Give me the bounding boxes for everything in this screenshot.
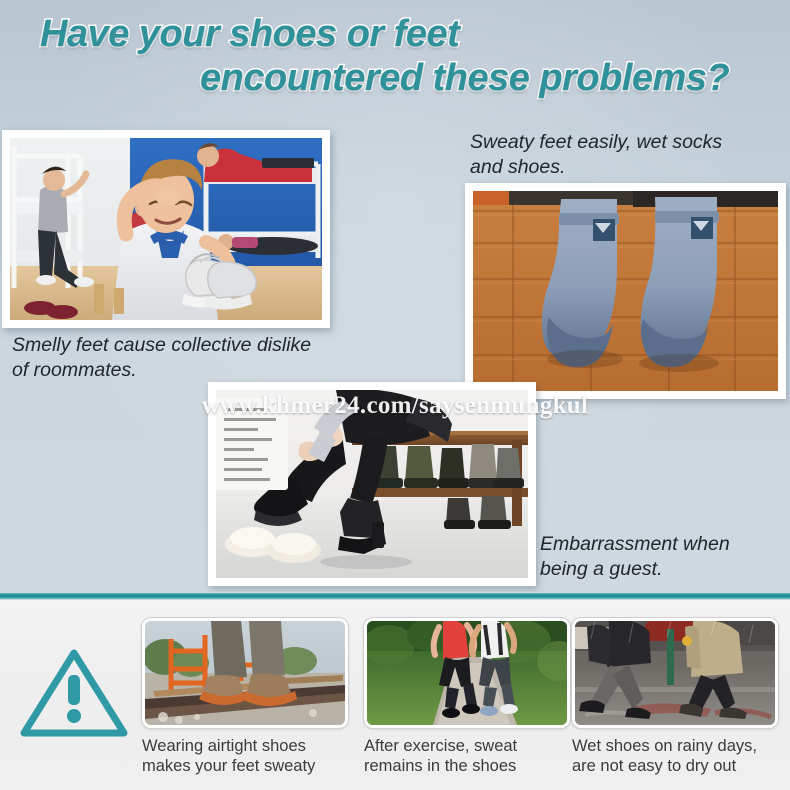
photo-entry-image xyxy=(216,390,528,578)
entry-scene-art xyxy=(216,390,528,578)
photo-wet-blue-socks xyxy=(465,183,786,399)
rain-scene-art xyxy=(575,621,775,725)
dorm-scene-art xyxy=(10,138,322,320)
caption-embarrassment: Embarrassment when being a guest. xyxy=(540,532,730,582)
thumb-joggers xyxy=(364,618,570,728)
card-label-after-exercise: After exercise, sweat remains in the sho… xyxy=(364,737,570,776)
headline-line-1: Have your shoes or feet xyxy=(40,12,790,56)
photo-dorm-smelly-shoes xyxy=(2,130,330,328)
caption-sweaty-feet: Sweaty feet easily, wet socks and shoes. xyxy=(470,130,722,180)
thumb-airtight-shoes xyxy=(142,618,348,728)
card-label-rainy-days: Wet shoes on rainy days, are not easy to… xyxy=(572,737,778,776)
headline: Have your shoes or feet encountered thes… xyxy=(0,12,790,100)
photo-dorm-image xyxy=(10,138,322,320)
card-airtight-shoes: Wearing airtight shoes makes your feet s… xyxy=(142,618,348,776)
section-divider xyxy=(0,592,790,600)
joggers-scene-art xyxy=(367,621,567,725)
photo-socks-image xyxy=(473,191,778,391)
card-after-exercise: After exercise, sweat remains in the sho… xyxy=(364,618,570,776)
promo-poster: Have your shoes or feet encountered thes… xyxy=(0,0,790,790)
socks-scene-art xyxy=(473,191,778,391)
warning-triangle-icon xyxy=(18,645,130,741)
warning-triangle-svg xyxy=(18,645,130,741)
thumb-rainy-street xyxy=(572,618,778,728)
caption-smelly-feet: Smelly feet cause collective dislike of … xyxy=(12,333,311,383)
card-label-airtight-shoes: Wearing airtight shoes makes your feet s… xyxy=(142,737,348,776)
headline-line-2: encountered these problems? xyxy=(200,56,790,100)
photo-entryway-boots xyxy=(208,382,536,586)
construction-scene-art xyxy=(145,621,345,725)
card-rainy-days: Wet shoes on rainy days, are not easy to… xyxy=(572,618,778,776)
